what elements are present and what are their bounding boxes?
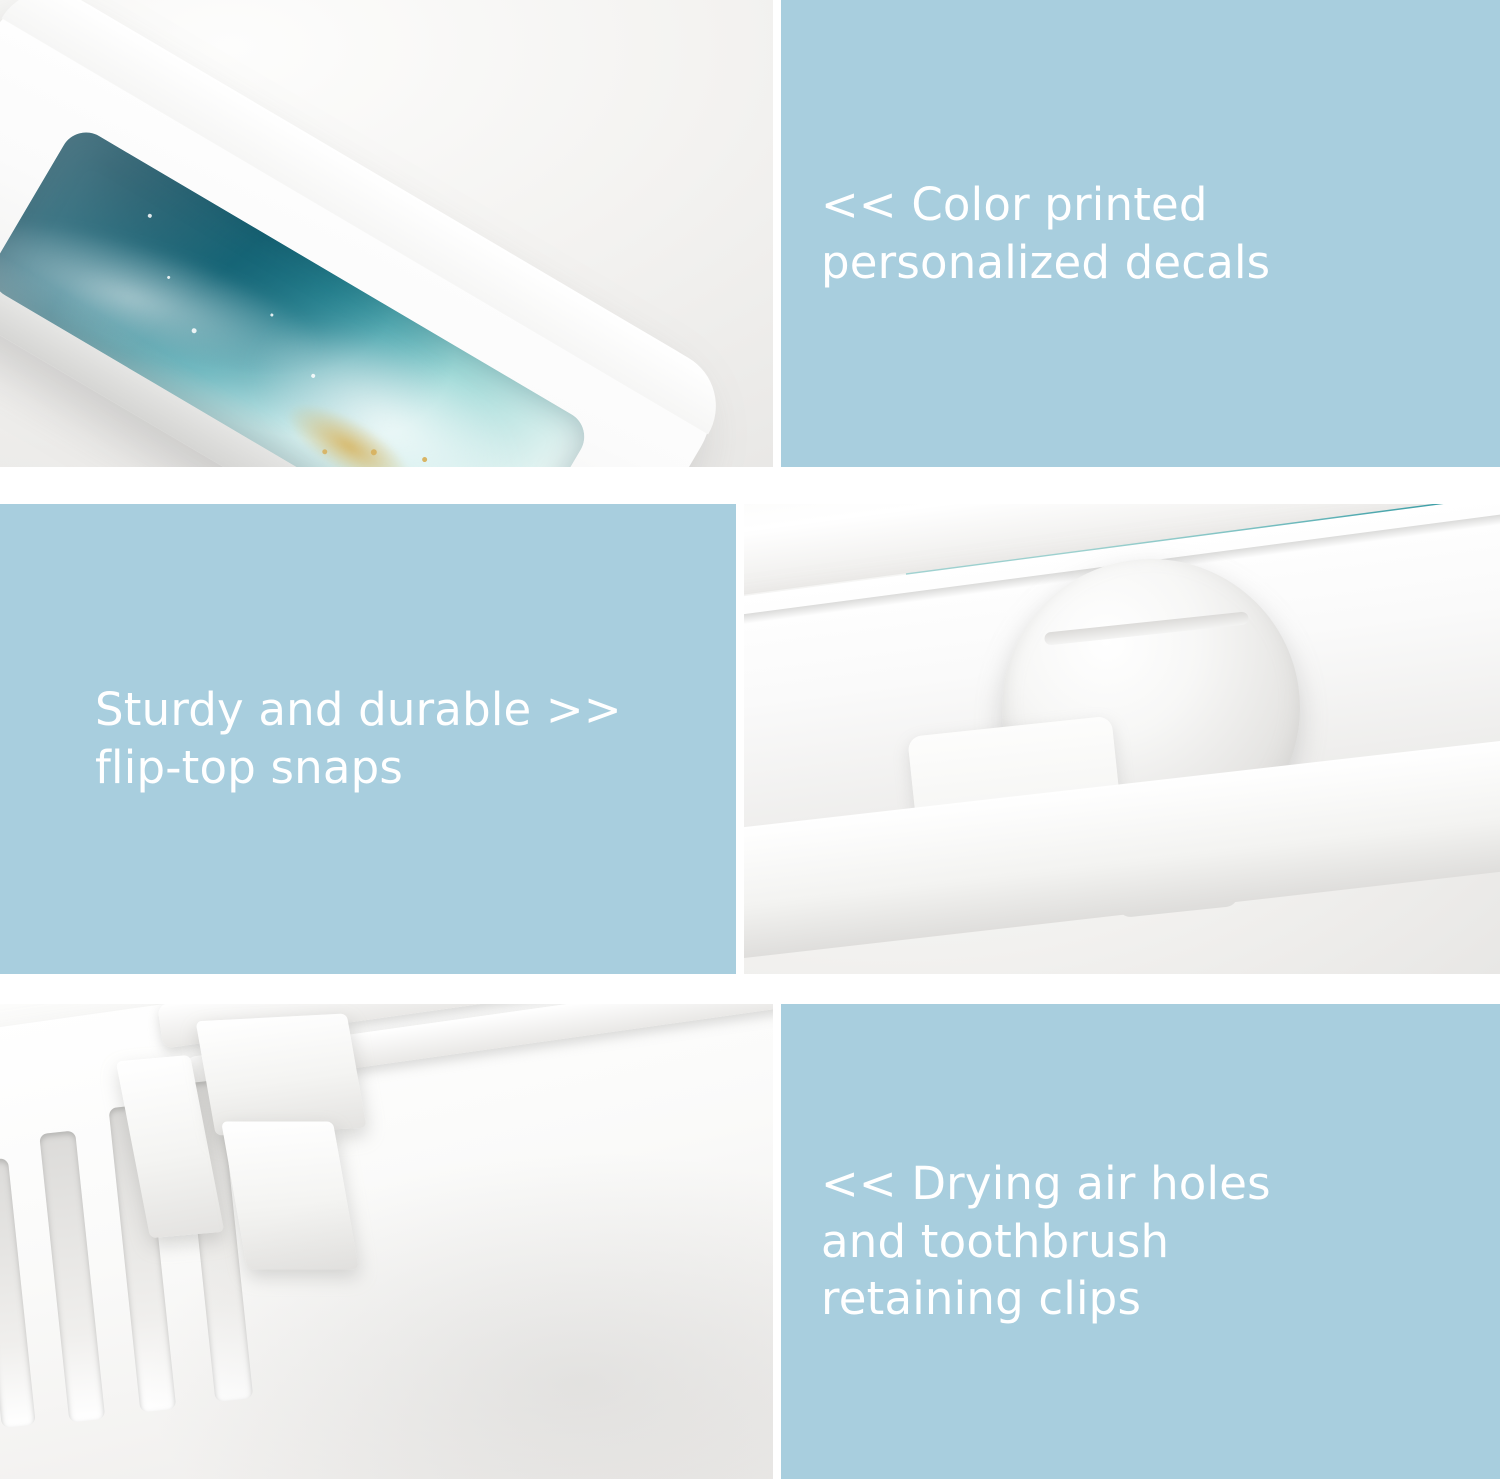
caption-panel-decals: << Color printed personalized decals [781, 0, 1500, 467]
caption-text-snaps: Sturdy and durable >> flip-top snaps [95, 681, 622, 796]
caption-panel-snaps: Sturdy and durable >> flip-top snaps [0, 504, 736, 974]
caption-panel-air-holes: << Drying air holes and toothbrush retai… [781, 1004, 1500, 1479]
caption-text-air-holes: << Drying air holes and toothbrush retai… [821, 1155, 1271, 1328]
photo-air-holes-and-clips [0, 1004, 773, 1479]
caption-text-decals: << Color printed personalized decals [821, 176, 1270, 291]
photo-flip-top-snap [744, 504, 1500, 974]
photo-case-with-decal [0, 0, 773, 467]
tray-shading [0, 1004, 773, 1479]
product-feature-collage: << Color printed personalized decals Stu… [0, 0, 1500, 1479]
